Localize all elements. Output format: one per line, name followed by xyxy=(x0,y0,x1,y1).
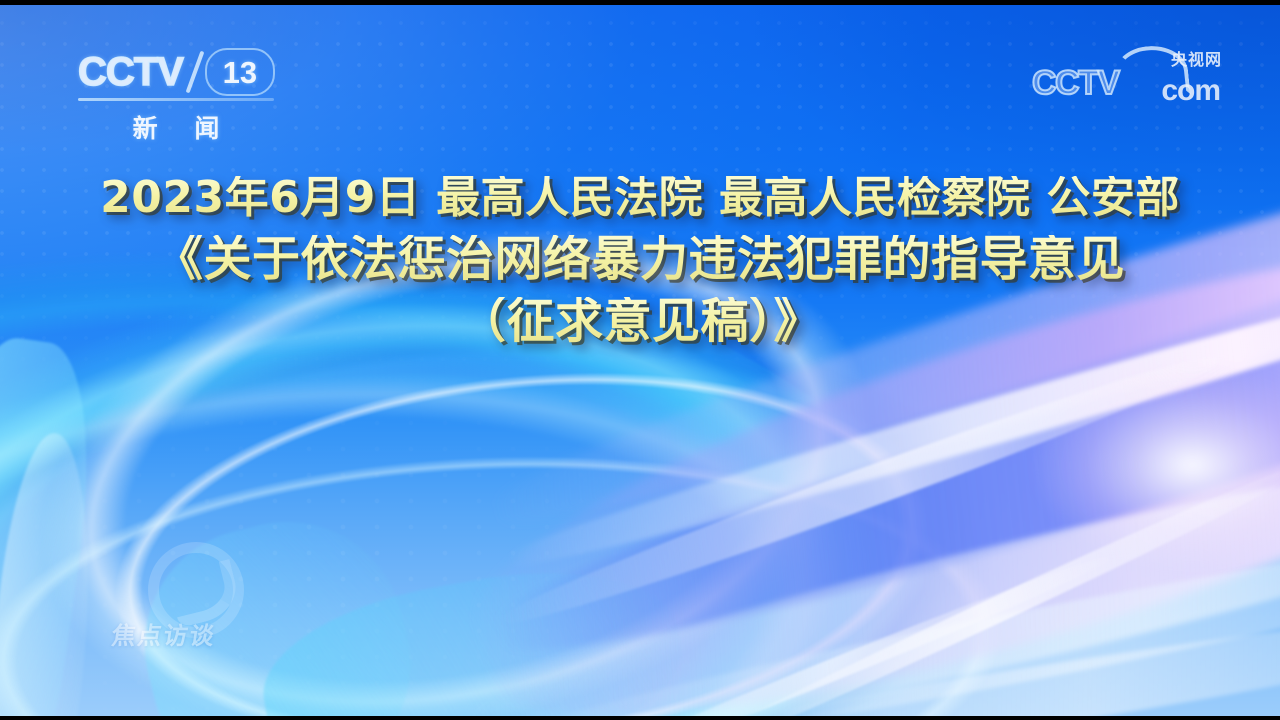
title-line-2: 《关于依法惩治网络暴力违法犯罪的指导意见 xyxy=(40,235,1240,283)
cctv-com-watermark: CCTV com 央视网 xyxy=(1032,48,1222,110)
cctv-wordmark: CCTV xyxy=(78,52,183,92)
channel-number: 13 xyxy=(223,57,257,88)
cctv-com-wordmark: CCTV xyxy=(1032,66,1119,100)
slash-icon xyxy=(187,50,205,94)
channel-name-label: 新 闻 xyxy=(78,109,274,145)
program-logo-icon xyxy=(142,540,234,616)
letterbox-bar-top xyxy=(0,0,1280,5)
title-line-1: 2023年6月9日 最高人民法院 最高人民检察院 公安部 xyxy=(40,176,1240,220)
cctv13-channel-logo: CCTV 13 新 闻 xyxy=(78,48,283,140)
program-watermark: 焦点访谈 xyxy=(112,540,302,650)
letterbox-bar-bottom xyxy=(0,716,1280,720)
title-block: 2023年6月9日 最高人民法院 最高人民检察院 公安部 《关于依法惩治网络暴力… xyxy=(0,176,1280,345)
title-line-3: （征求意见稿）》 xyxy=(40,297,1240,345)
broadcast-frame: CCTV 13 新 闻 CCTV com 央视网 焦点访谈 2023年6月9日 … xyxy=(0,0,1280,720)
cctv-com-suffix: com xyxy=(1161,76,1220,106)
channel-logo-row: CCTV 13 xyxy=(78,48,283,96)
logo-underline xyxy=(78,98,274,101)
program-name-label: 焦点访谈 xyxy=(110,616,219,651)
channel-number-badge: 13 xyxy=(205,48,275,96)
cctv-com-chinese-label: 央视网 xyxy=(1171,52,1222,68)
